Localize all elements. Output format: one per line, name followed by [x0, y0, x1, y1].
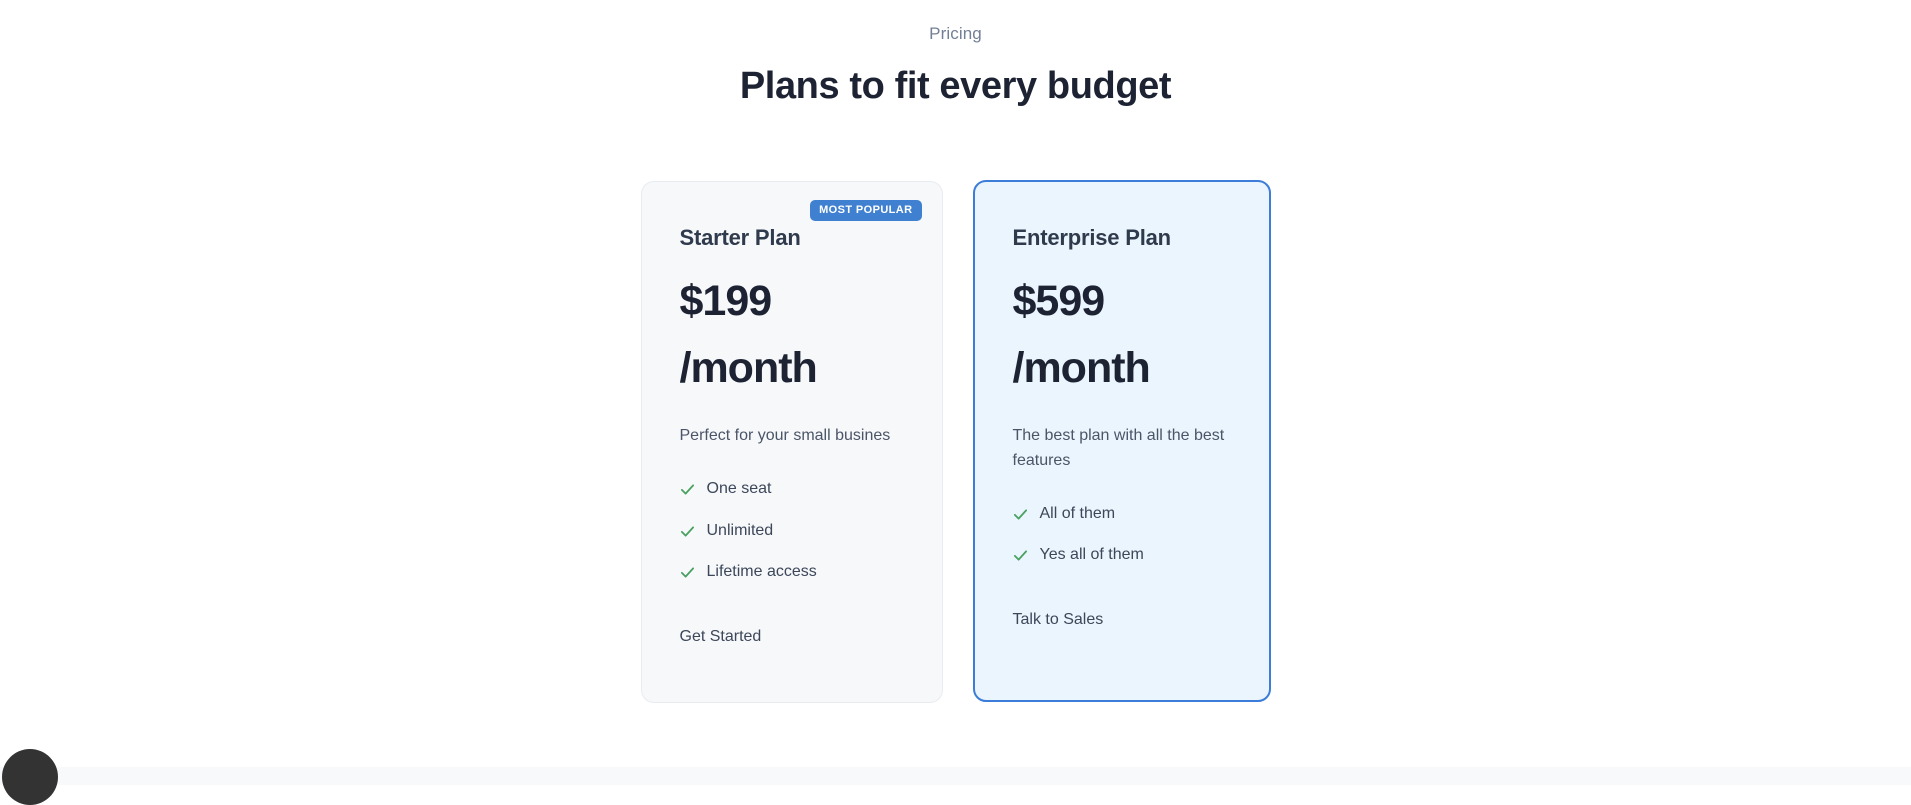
page-title: Plans to fit every budget	[0, 64, 1911, 110]
pricing-card-starter[interactable]: MOST POPULAR Starter Plan $199 /month Pe…	[641, 181, 943, 703]
plan-name: Enterprise Plan	[1013, 224, 1231, 253]
feature-label: All of them	[1040, 504, 1116, 525]
feature-label: One seat	[707, 479, 772, 500]
pricing-card-enterprise[interactable]: Enterprise Plan $599 /month The best pla…	[973, 180, 1271, 702]
feature-list: All of them Yes all of them	[1013, 504, 1231, 567]
check-icon	[1013, 548, 1028, 563]
plan-price: $599	[1013, 275, 1231, 329]
plan-tagline: Perfect for your small busines	[680, 424, 895, 449]
plan-period: /month	[680, 342, 904, 396]
chat-bubble-icon[interactable]	[2, 749, 58, 805]
pricing-page: Pricing Plans to fit every budget MOST P…	[0, 0, 1911, 785]
feature-item: Lifetime access	[680, 562, 904, 583]
feature-label: Lifetime access	[707, 562, 817, 583]
most-popular-badge: MOST POPULAR	[810, 200, 921, 221]
check-icon	[680, 482, 695, 497]
feature-item: All of them	[1013, 504, 1231, 525]
feature-label: Unlimited	[707, 521, 774, 542]
plan-name: Starter Plan	[680, 224, 904, 253]
feature-item: Yes all of them	[1013, 545, 1231, 566]
feature-label: Yes all of them	[1040, 545, 1144, 566]
feature-list: One seat Unlimited Lifetime access	[680, 479, 904, 583]
check-icon	[680, 565, 695, 580]
feature-item: Unlimited	[680, 521, 904, 542]
feature-item: One seat	[680, 479, 904, 500]
plan-price: $199	[680, 275, 904, 329]
talk-to-sales-button[interactable]: Talk to Sales	[1013, 610, 1104, 631]
pricing-cards: MOST POPULAR Starter Plan $199 /month Pe…	[0, 181, 1911, 703]
eyebrow-label: Pricing	[0, 22, 1911, 46]
plan-period: /month	[1013, 342, 1231, 396]
check-icon	[1013, 507, 1028, 522]
page-header: Pricing Plans to fit every budget	[0, 0, 1911, 109]
plan-tagline: The best plan with all the best features	[1013, 424, 1228, 474]
get-started-button[interactable]: Get Started	[680, 627, 762, 648]
check-icon	[680, 524, 695, 539]
footer-strip	[0, 767, 1911, 785]
